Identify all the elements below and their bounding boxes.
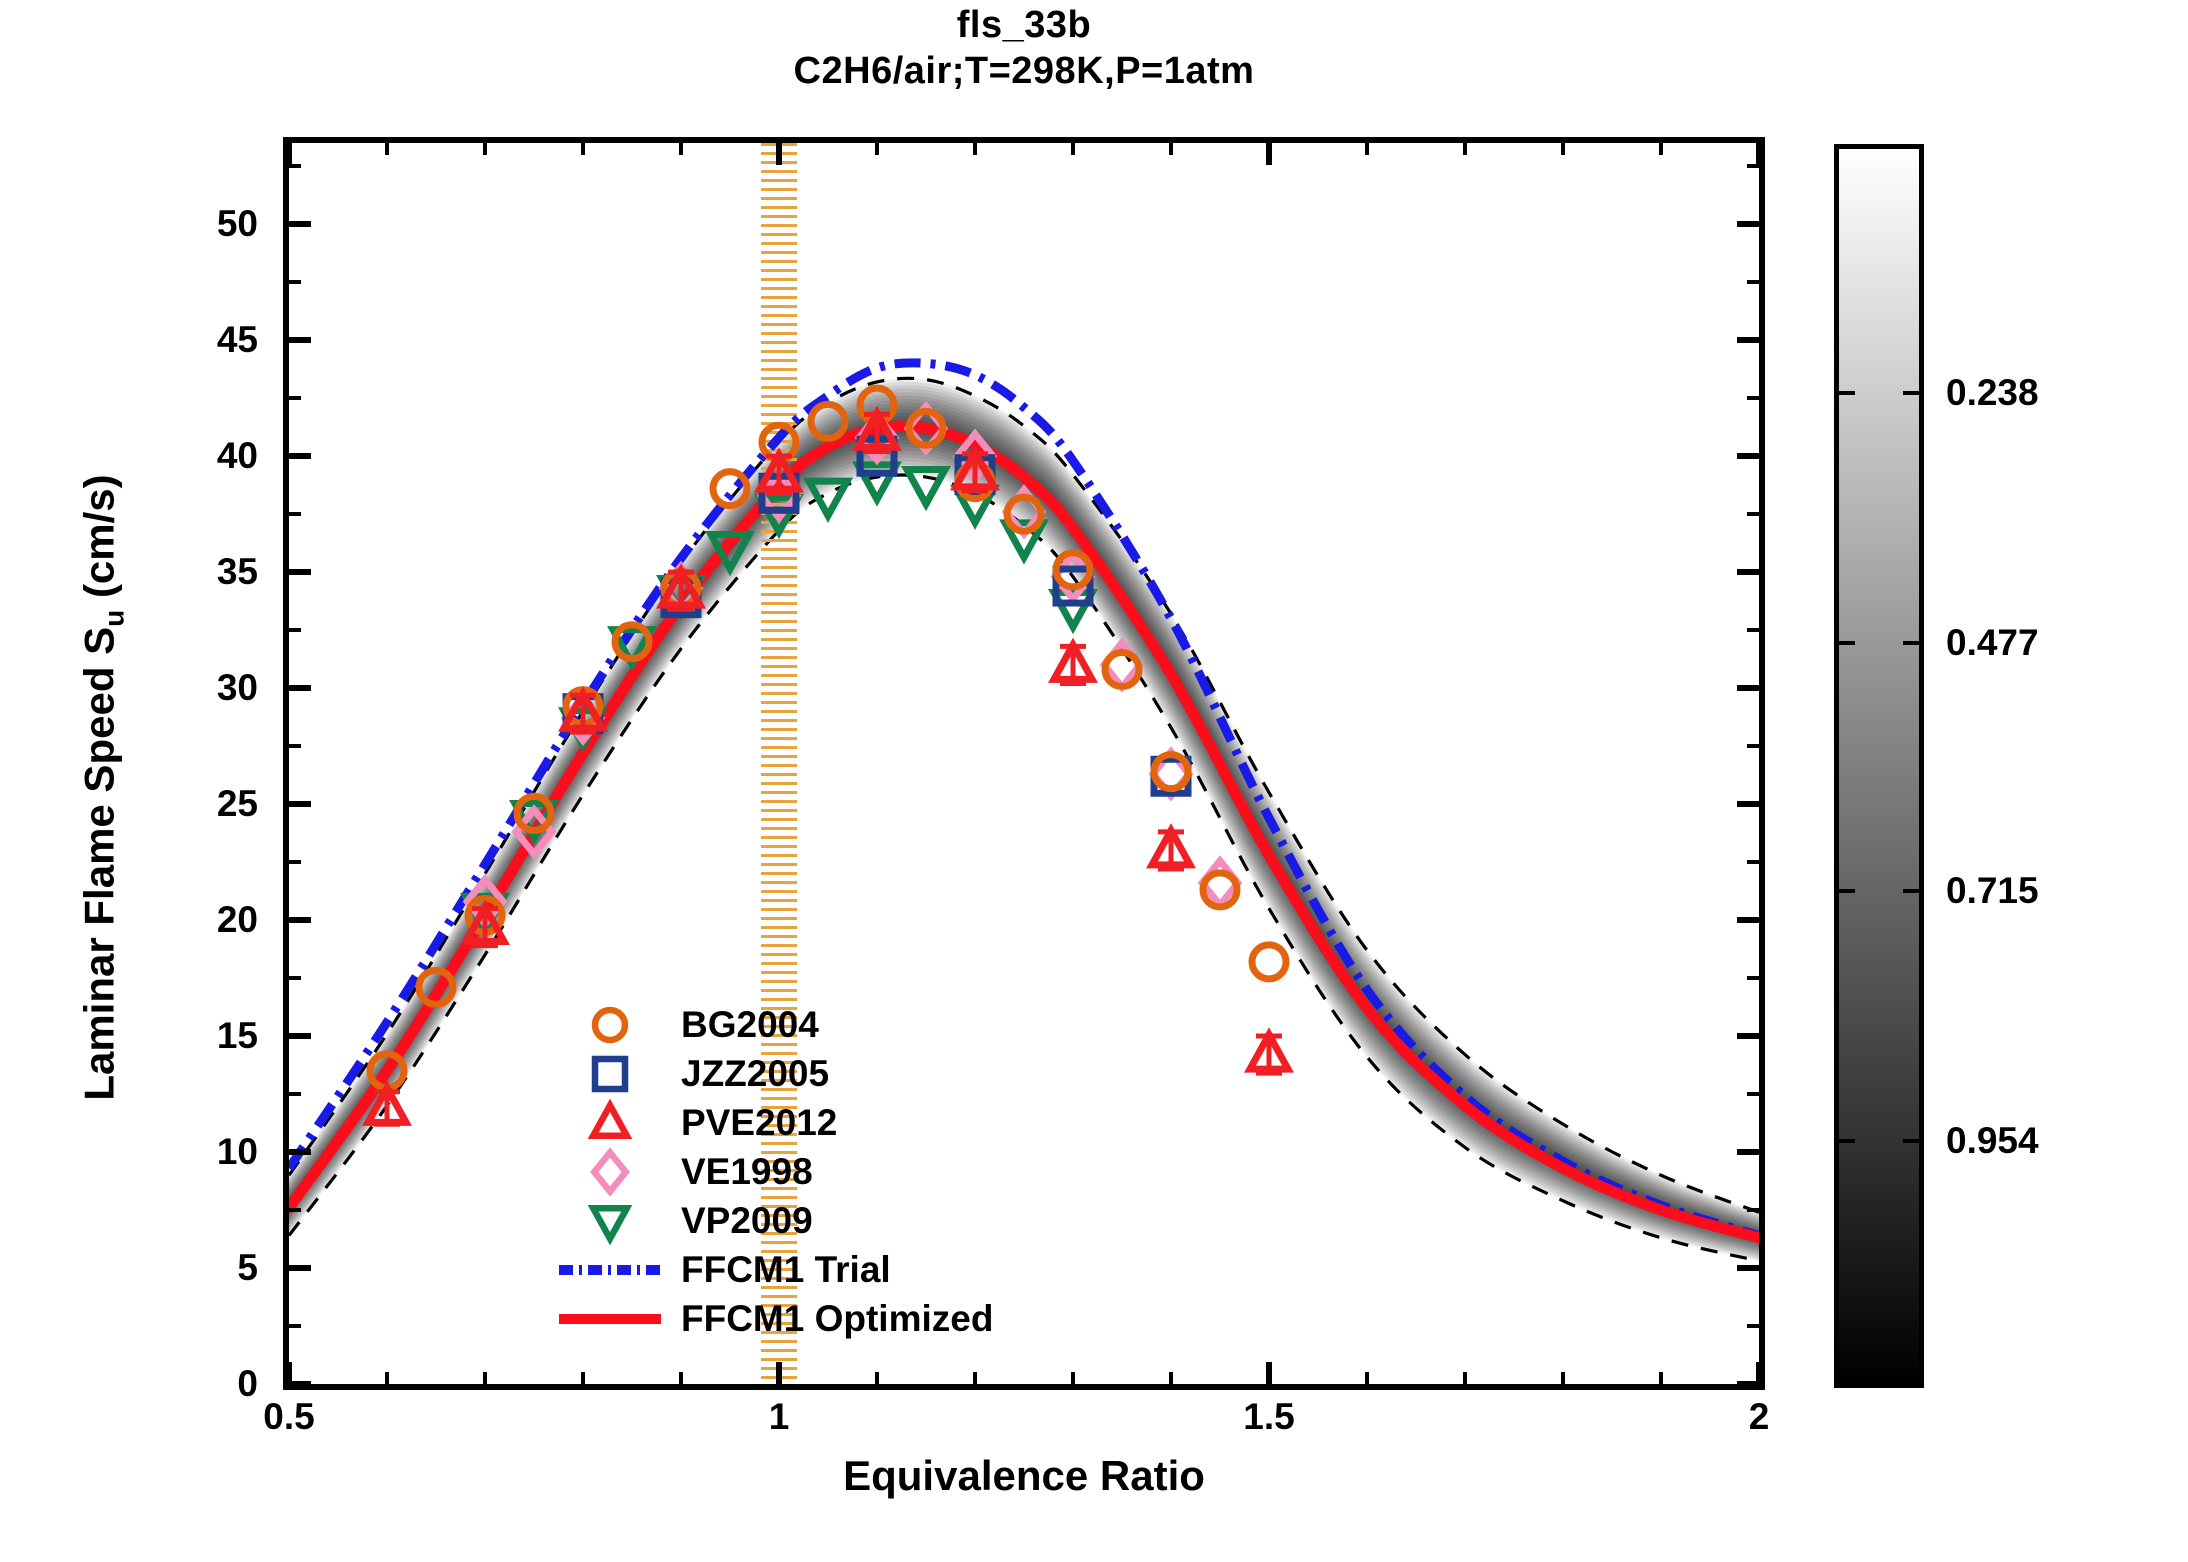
legend-item-bg2004[interactable]: BG2004 — [555, 1000, 1195, 1049]
x-tick-minor-top — [1463, 143, 1467, 155]
y-tick-major — [289, 801, 311, 807]
legend-item-vp2009[interactable]: VP2009 — [555, 1196, 1195, 1245]
y-tick-label: 40 — [138, 437, 258, 474]
colorbar-tick — [1839, 889, 1855, 893]
y-tick-minor-right — [1747, 976, 1759, 980]
data-point-triangle-down — [907, 470, 945, 505]
y-tick-major — [289, 685, 311, 691]
data-point-triangle-down — [809, 481, 847, 516]
y-tick-minor-right — [1747, 744, 1759, 748]
x-tick-minor-top — [1365, 143, 1369, 155]
legend-label: PVE2012 — [665, 1104, 837, 1141]
x-tick-major-top — [1756, 143, 1762, 165]
chart-title-block: fls_33b C2H6/air;T=298K,P=1atm — [283, 2, 1765, 94]
data-point-circle — [595, 1010, 625, 1040]
y-tick-label: 15 — [138, 1017, 258, 1054]
y-tick-major-right — [1737, 337, 1759, 343]
y-tick-minor-right — [1747, 860, 1759, 864]
x-tick-minor-top — [385, 143, 389, 155]
chart-subtitle: C2H6/air;T=298K,P=1atm — [283, 48, 1765, 94]
x-tick-minor — [1659, 1372, 1663, 1384]
x-tick-minor-top — [1561, 143, 1565, 155]
legend-item-ve1998[interactable]: VE1998 — [555, 1147, 1195, 1196]
x-tick-minor-top — [581, 143, 585, 155]
data-point-circle — [811, 404, 845, 438]
y-tick-minor — [289, 1092, 301, 1096]
colorbar-tick — [1903, 889, 1919, 893]
x-tick-label: 1 — [699, 1398, 859, 1435]
colorbar-tick — [1839, 641, 1855, 645]
legend-item-ffcm1-optimized[interactable]: FFCM1 Optimized — [555, 1294, 1195, 1343]
x-tick-minor — [1071, 1372, 1075, 1384]
x-tick-label: 1.5 — [1189, 1398, 1349, 1435]
y-tick-label: 5 — [138, 1249, 258, 1286]
y-tick-label: 50 — [138, 205, 258, 242]
y-tick-minor — [289, 744, 301, 748]
y-tick-minor-right — [1747, 1208, 1759, 1212]
colorbar-tick-label: 0.715 — [1946, 872, 2039, 909]
x-tick-minor-top — [1169, 143, 1173, 155]
y-axis-title: Laminar Flame Speed Su (cm/s) — [76, 238, 131, 1338]
y-tick-major-right — [1737, 801, 1759, 807]
data-point-circle — [1252, 945, 1286, 979]
y-tick-minor — [289, 512, 301, 516]
legend-label: BG2004 — [665, 1006, 819, 1043]
y-tick-minor-right — [1747, 512, 1759, 516]
x-tick-minor-top — [875, 143, 879, 155]
legend-symbol-square-icon — [555, 1049, 665, 1098]
x-tick-major — [1266, 1362, 1272, 1384]
colorbar-tick — [1903, 641, 1919, 645]
x-tick-minor-top — [973, 143, 977, 155]
colorbar-tick — [1839, 391, 1855, 395]
y-tick-major-right — [1737, 1265, 1759, 1271]
x-tick-minor — [385, 1372, 389, 1384]
y-tick-minor — [289, 628, 301, 632]
x-tick-minor — [1561, 1372, 1565, 1384]
x-tick-minor — [679, 1372, 683, 1384]
x-tick-minor — [1169, 1372, 1173, 1384]
y-axis-title-prefix: Laminar Flame Speed S — [76, 627, 123, 1101]
y-tick-major-right — [1737, 685, 1759, 691]
y-axis-title-suffix: (cm/s) — [76, 474, 123, 609]
y-tick-label: 35 — [138, 553, 258, 590]
colorbar[interactable] — [1834, 144, 1924, 1388]
y-tick-major-right — [1737, 917, 1759, 923]
y-tick-label: 10 — [138, 1133, 258, 1170]
y-tick-minor-right — [1747, 280, 1759, 284]
x-tick-minor-top — [1659, 143, 1663, 155]
legend-item-ffcm1-trial[interactable]: FFCM1 Trial — [555, 1245, 1195, 1294]
colorbar-tick-label: 0.477 — [1946, 624, 2039, 661]
x-tick-label: 2 — [1679, 1398, 1839, 1435]
data-point-triangle-up — [593, 1105, 627, 1135]
y-tick-minor — [289, 396, 301, 400]
y-tick-label: 25 — [138, 785, 258, 822]
legend-symbol-dashdot-line-icon — [555, 1245, 665, 1294]
legend-label: VP2009 — [665, 1202, 813, 1239]
y-tick-minor-right — [1747, 1324, 1759, 1328]
legend-label: JZZ2005 — [665, 1055, 829, 1092]
colorbar-tick — [1903, 391, 1919, 395]
y-axis-title-subscript: u — [99, 610, 130, 627]
x-tick-minor — [581, 1372, 585, 1384]
data-point-circle — [419, 970, 453, 1004]
colorbar-tick — [1903, 1139, 1919, 1143]
x-tick-major — [1756, 1362, 1762, 1384]
y-tick-major — [289, 1033, 311, 1039]
x-tick-minor — [1463, 1372, 1467, 1384]
y-tick-major — [289, 1149, 311, 1155]
legend-symbol-solid-line-icon — [555, 1294, 665, 1343]
colorbar-tick-label: 0.238 — [1946, 374, 2039, 411]
legend-label: VE1998 — [665, 1153, 813, 1190]
y-tick-label: 0 — [138, 1365, 258, 1402]
y-tick-major-right — [1737, 221, 1759, 227]
x-tick-major-top — [776, 143, 782, 165]
legend-symbol-triangle-down-icon — [555, 1196, 665, 1245]
y-tick-label: 45 — [138, 321, 258, 358]
legend-symbol-diamond-icon — [555, 1147, 665, 1196]
data-point-square — [595, 1059, 625, 1089]
legend-label: FFCM1 Trial — [665, 1251, 891, 1288]
y-tick-major — [289, 1265, 311, 1271]
x-tick-minor — [875, 1372, 879, 1384]
chart-root: fls_33b C2H6/air;T=298K,P=1atm 051015202… — [0, 0, 2188, 1562]
y-tick-major-right — [1737, 1033, 1759, 1039]
x-tick-major-top — [286, 143, 292, 165]
y-tick-minor-right — [1747, 628, 1759, 632]
y-tick-major — [289, 337, 311, 343]
x-tick-major-top — [1266, 143, 1272, 165]
legend-symbol-triangle-up-icon — [555, 1098, 665, 1147]
x-tick-minor-top — [1071, 143, 1075, 155]
y-tick-minor-right — [1747, 1092, 1759, 1096]
data-point-diamond — [594, 1153, 626, 1192]
x-tick-major — [286, 1362, 292, 1384]
x-tick-minor — [1365, 1372, 1369, 1384]
legend-item-jzz2005[interactable]: JZZ2005 — [555, 1049, 1195, 1098]
y-tick-major — [289, 569, 311, 575]
legend-label: FFCM1 Optimized — [665, 1300, 993, 1337]
y-tick-major-right — [1737, 1149, 1759, 1155]
y-tick-label: 30 — [138, 669, 258, 706]
colorbar-wrap: 0.2380.4770.7150.954 — [1834, 144, 1924, 1388]
y-tick-major — [289, 917, 311, 923]
legend-item-pve2012[interactable]: PVE2012 — [555, 1098, 1195, 1147]
y-tick-label: 20 — [138, 901, 258, 938]
y-tick-minor — [289, 860, 301, 864]
data-point-circle — [713, 472, 747, 506]
colorbar-tick-label: 0.954 — [1946, 1122, 2039, 1159]
y-tick-minor — [289, 280, 301, 284]
y-tick-minor-right — [1747, 396, 1759, 400]
data-point-triangle-down — [711, 534, 749, 569]
y-tick-major-right — [1737, 453, 1759, 459]
x-tick-major — [776, 1362, 782, 1384]
x-tick-minor — [973, 1372, 977, 1384]
y-tick-minor — [289, 976, 301, 980]
colorbar-tick — [1839, 1139, 1855, 1143]
x-tick-label: 0.5 — [209, 1398, 369, 1435]
data-point-triangle-down — [593, 1208, 627, 1238]
y-tick-major — [289, 221, 311, 227]
page-title: fls_33b — [283, 2, 1765, 48]
legend: BG2004JZZ2005PVE2012VE1998VP2009FFCM1 Tr… — [555, 1000, 1195, 1343]
y-tick-major — [289, 1381, 311, 1387]
y-tick-major-right — [1737, 569, 1759, 575]
legend-symbol-circle-icon — [555, 1000, 665, 1049]
x-tick-minor-top — [483, 143, 487, 155]
x-tick-minor — [483, 1372, 487, 1384]
y-tick-minor — [289, 1324, 301, 1328]
data-point-circle — [909, 411, 943, 445]
x-axis-title: Equivalence Ratio — [283, 1452, 1765, 1500]
y-tick-minor — [289, 1208, 301, 1212]
y-tick-major — [289, 453, 311, 459]
x-tick-minor-top — [679, 143, 683, 155]
